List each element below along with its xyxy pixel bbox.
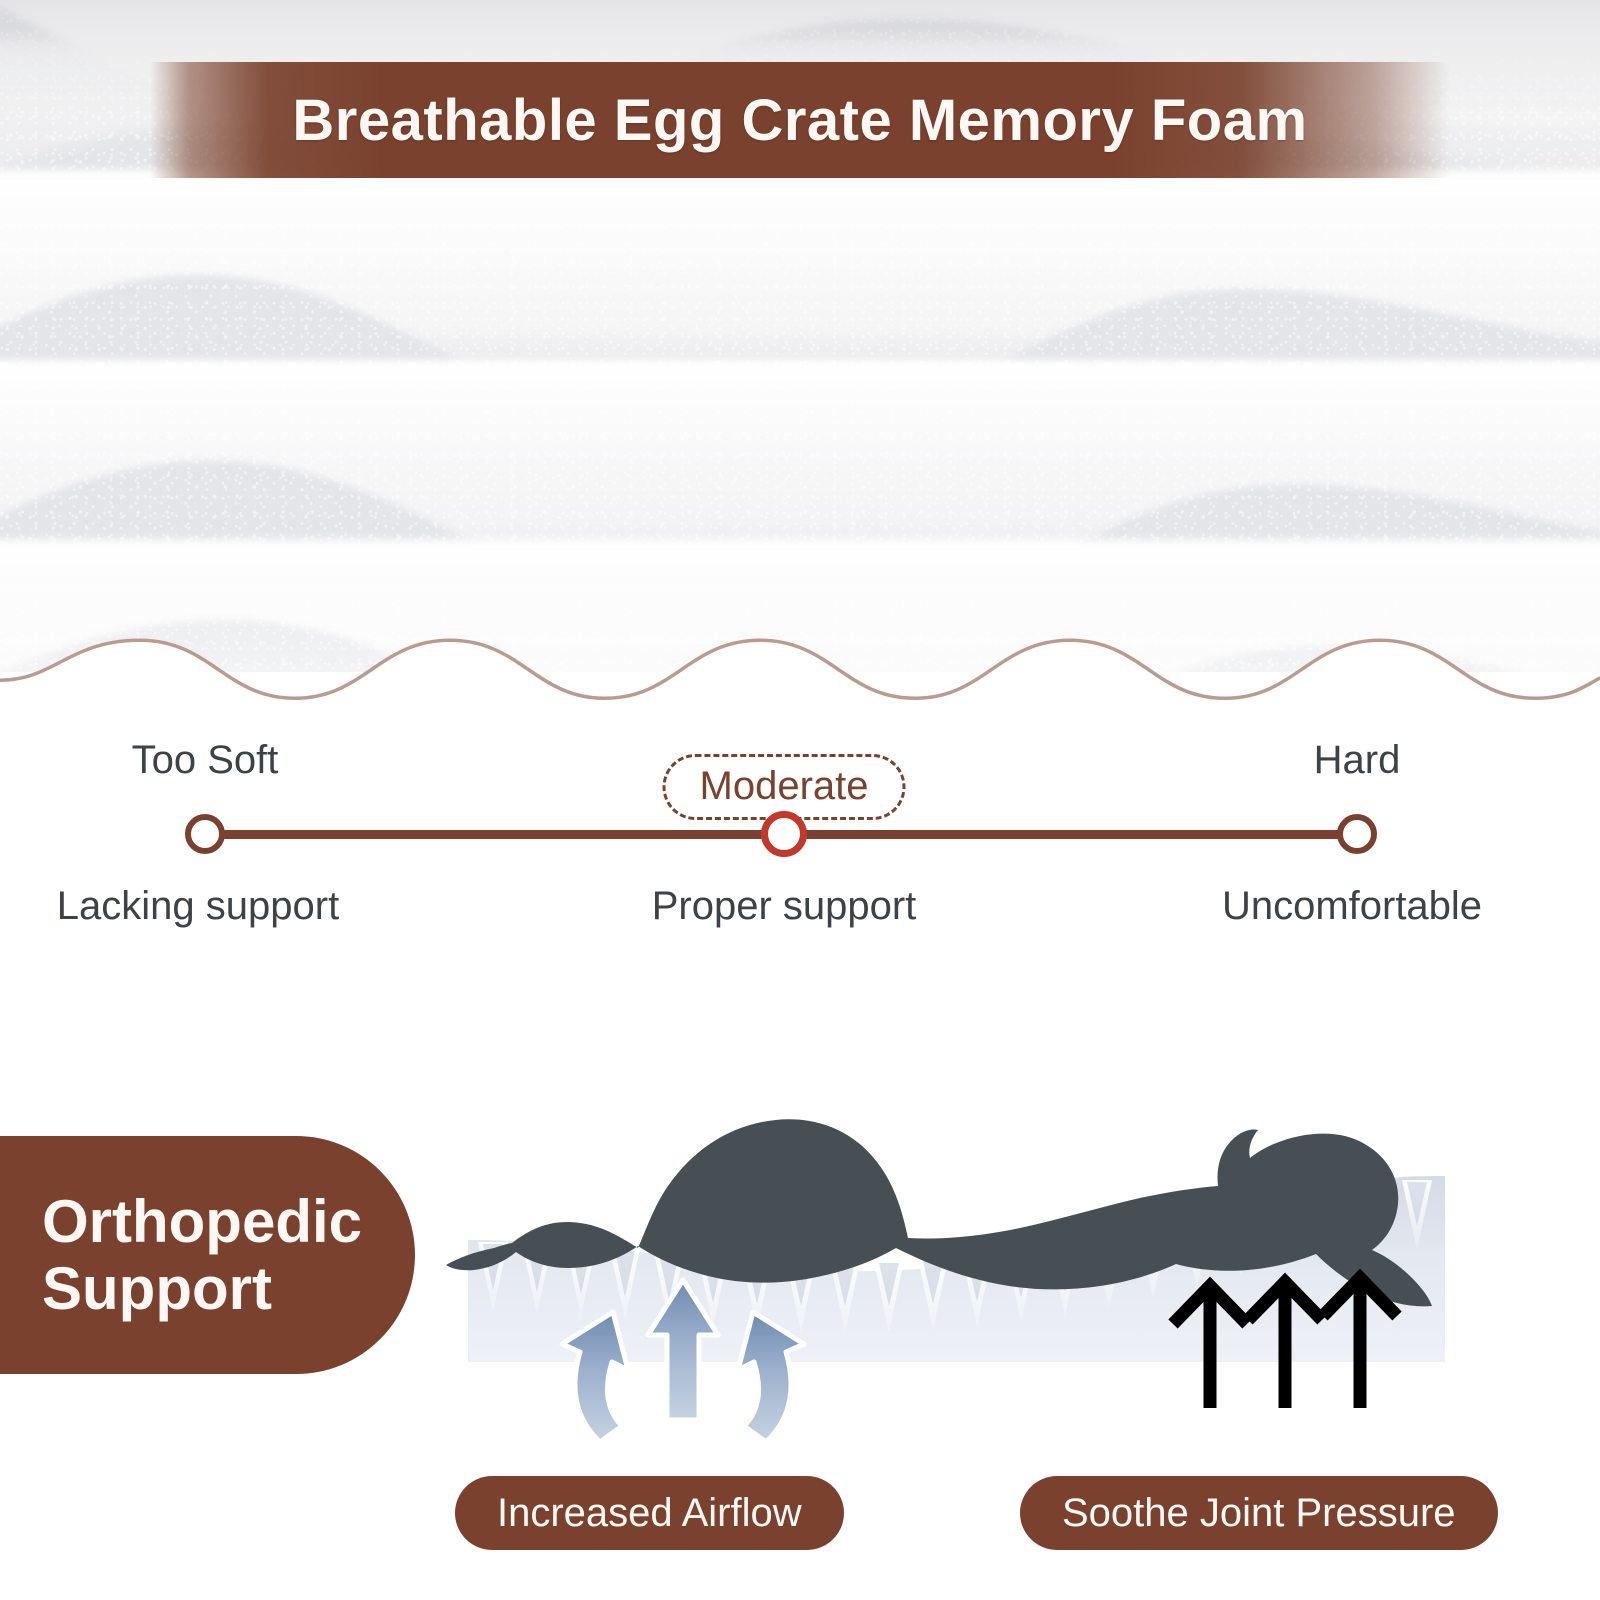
scale-marker-too-soft[interactable] [185,814,225,854]
caption-joint-label: Soothe Joint Pressure [1062,1491,1456,1536]
caption-pill-increased-airflow: Increased Airflow [455,1476,844,1550]
scale-top-label-hard: Hard [1314,738,1401,783]
orthopedic-badge-line1: Orthopedic [42,1188,415,1255]
scale-bottom-label-uncomfortable: Uncomfortable [1222,884,1482,929]
orthopedic-badge-line2: Support [42,1255,415,1322]
firmness-scale: Too Soft Moderate Hard Lacking support P… [0,716,1600,956]
banner-title-bar: Breathable Egg Crate Memory Foam [150,62,1450,178]
infographic-page: Breathable Egg Crate Memory Foam Too Sof… [0,0,1600,1600]
caption-airflow-label: Increased Airflow [497,1491,802,1536]
firmness-bottom-labels: Lacking support Proper support Uncomfort… [0,884,1600,944]
scale-marker-hard[interactable] [1337,814,1377,854]
scale-top-label-too-soft: Too Soft [132,738,279,783]
caption-pill-soothe-joint-pressure: Soothe Joint Pressure [1020,1476,1498,1550]
firmness-top-labels: Too Soft Moderate Hard [0,738,1600,798]
scale-marker-moderate[interactable] [761,811,807,857]
page-title: Breathable Egg Crate Memory Foam [292,87,1307,154]
orthopedic-support-badge: Orthopedic Support [0,1136,415,1374]
wavy-divider [0,600,1600,720]
scale-bottom-label-lacking-support: Lacking support [57,884,339,929]
scale-bottom-label-proper-support: Proper support [652,884,917,929]
pressure-arrows [1173,1278,1397,1408]
